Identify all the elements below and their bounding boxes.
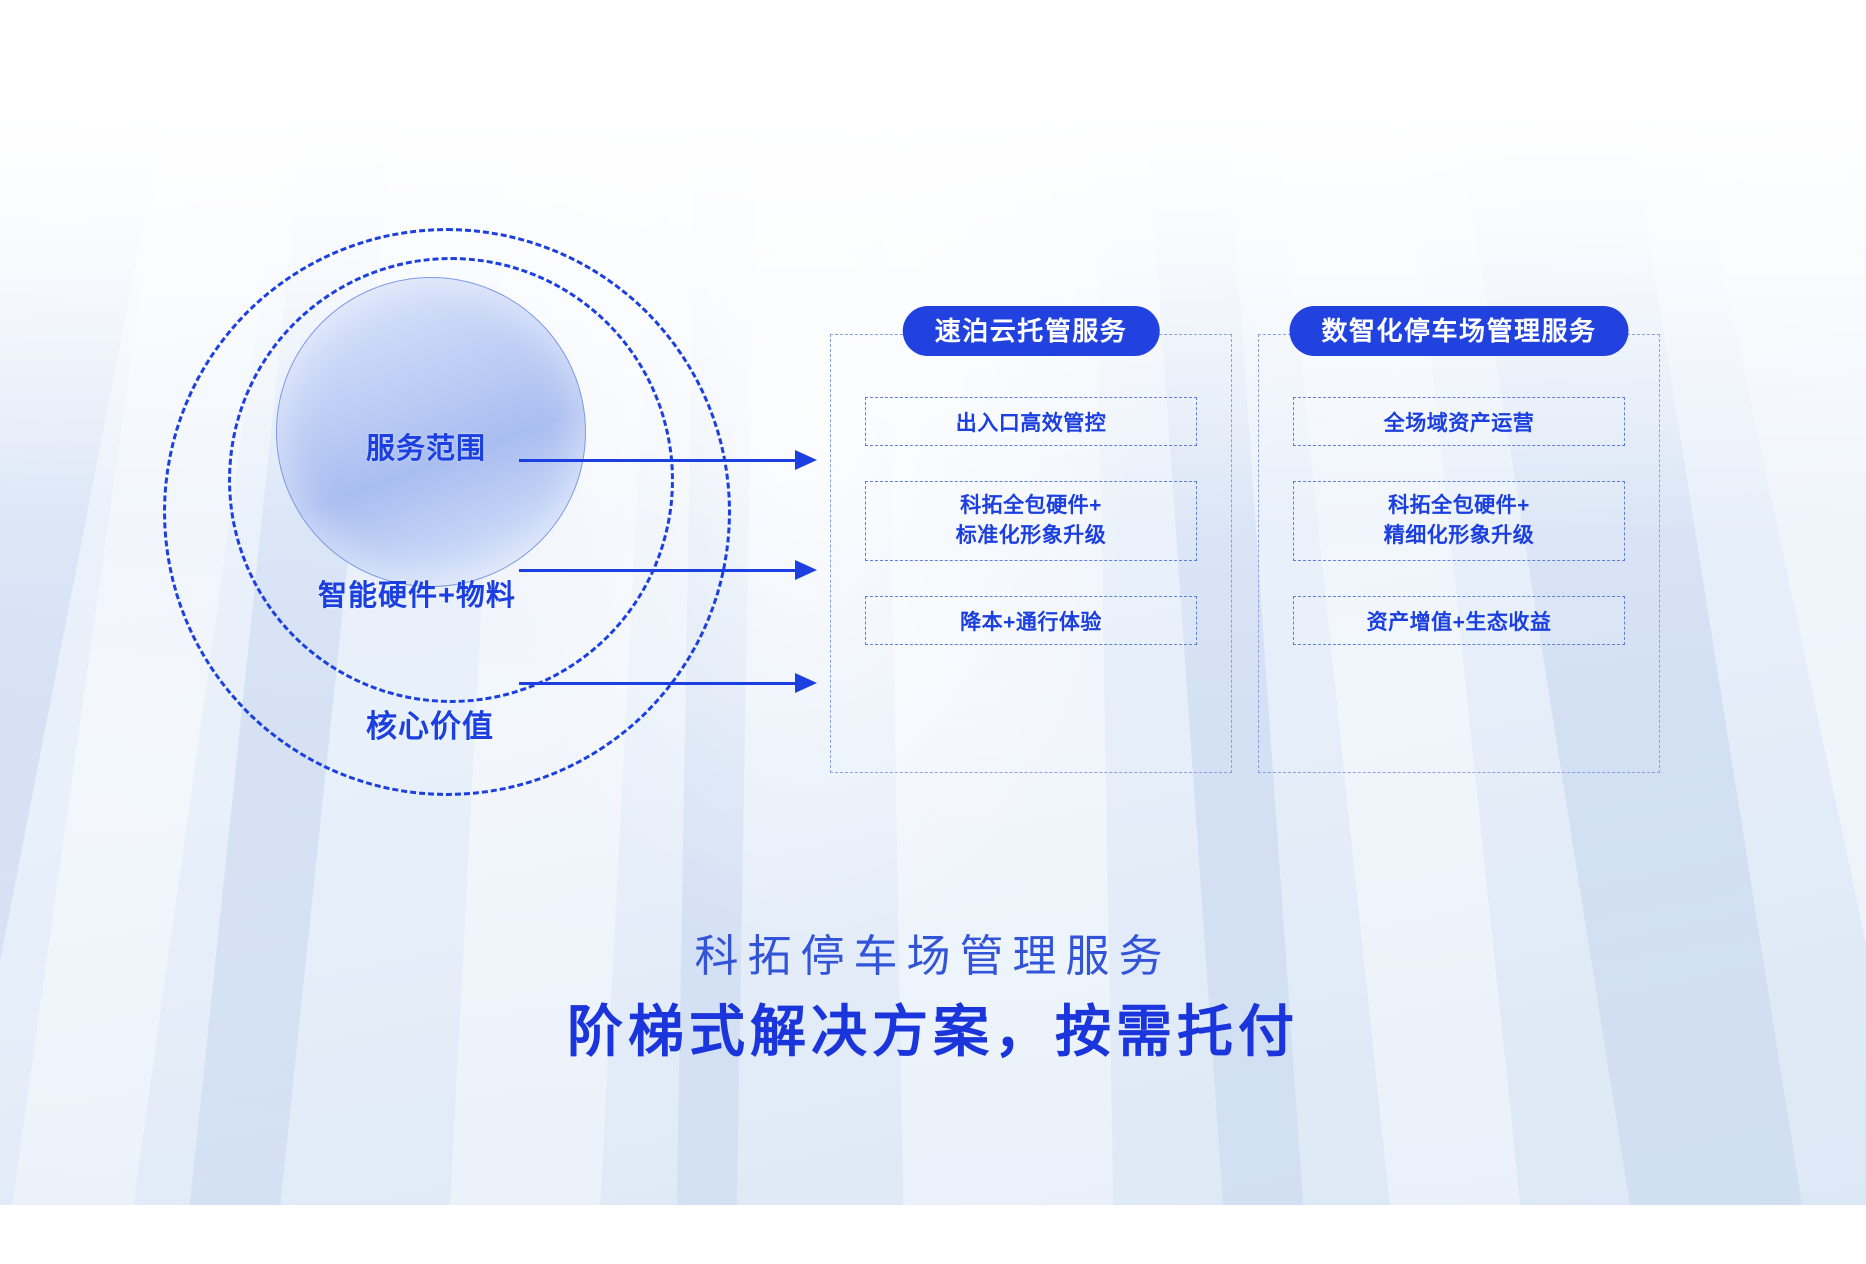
service-column-smart-parking[interactable]: 数智化停车场管理服务 全场域资产运营 科拓全包硬件+ 精细化形象升级 资产增值+… (1258, 334, 1660, 773)
service-item-line: 科拓全包硬件+ (960, 491, 1102, 521)
service-item-line: 出入口高效管控 (956, 407, 1107, 437)
circle-label-scope: 服务范围 (366, 425, 486, 467)
service-item-line: 降本+通行体验 (960, 606, 1102, 636)
footer-subtitle: 科拓停车场管理服务 (0, 920, 1866, 984)
service-item-line: 资产增值+生态收益 (1367, 606, 1552, 636)
column-items-smart-parking: 全场域资产运营 科拓全包硬件+ 精细化形象升级 资产增值+生态收益 (1293, 397, 1625, 645)
concentric-circles-group: 服务范围 智能硬件+物料 核心价值 (0, 0, 860, 1264)
service-item-line: 科拓全包硬件+ (1388, 491, 1530, 521)
service-column-supo-cloud[interactable]: 速泊云托管服务 出入口高效管控 科拓全包硬件+ 标准化形象升级 降本+通行体验 (830, 334, 1232, 773)
column-items-supo-cloud: 出入口高效管控 科拓全包硬件+ 标准化形象升级 降本+通行体验 (865, 397, 1197, 645)
column-header-pill-smart-parking[interactable]: 数智化停车场管理服务 (1289, 306, 1628, 356)
circle-label-hardware: 智能硬件+物料 (318, 572, 516, 614)
footer-main-title: 阶梯式解决方案，按需托付 (0, 987, 1866, 1068)
service-item[interactable]: 科拓全包硬件+ 标准化形象升级 (865, 481, 1197, 561)
service-item[interactable]: 科拓全包硬件+ 精细化形象升级 (1293, 481, 1625, 561)
spacer (1293, 446, 1625, 481)
service-item-line: 全场域资产运营 (1384, 407, 1535, 437)
spacer (865, 561, 1197, 596)
service-item[interactable]: 降本+通行体验 (865, 596, 1197, 645)
service-item[interactable]: 资产增值+生态收益 (1293, 596, 1625, 645)
spacer (1293, 561, 1625, 596)
service-item-line: 精细化形象升级 (1384, 521, 1535, 551)
top-white-band (0, 0, 1866, 113)
circle-label-core-value: 核心价值 (366, 701, 494, 746)
service-item-line: 标准化形象升级 (956, 521, 1107, 551)
column-header-pill-supo-cloud[interactable]: 速泊云托管服务 (903, 306, 1160, 356)
service-item[interactable]: 出入口高效管控 (865, 397, 1197, 446)
bottom-white-band (0, 1205, 1866, 1264)
spacer (865, 446, 1197, 481)
service-item[interactable]: 全场域资产运营 (1293, 397, 1625, 446)
